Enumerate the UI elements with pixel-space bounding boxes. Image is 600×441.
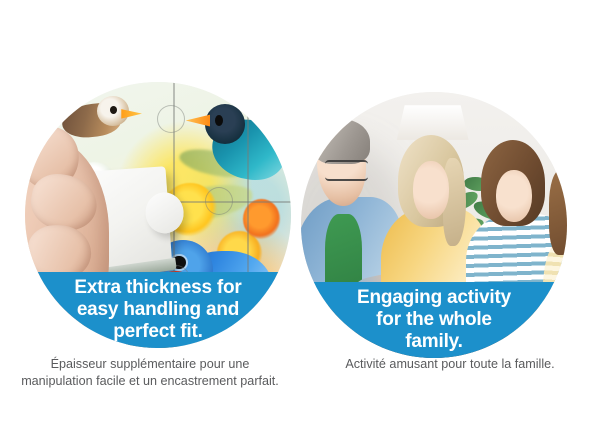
caption-band-engaging-activity: Engaging activity for the whole family. xyxy=(301,282,567,358)
puzzle-knob xyxy=(206,188,232,214)
medallion-engaging-activity: Engaging activity for the whole family. xyxy=(301,92,567,358)
subcaption-french-extra-thickness: Épaisseur supplémentaire pour une manipu… xyxy=(0,356,300,389)
subcaption-french-engaging-activity: Activité amusant pour toute la famille. xyxy=(300,356,600,373)
feature-board: Extra thickness for easy handling and pe… xyxy=(0,0,600,441)
face xyxy=(496,170,532,222)
puzzle-knob xyxy=(158,106,184,132)
caption-text-english: Engaging activity for the whole family. xyxy=(357,287,511,353)
medallion-extra-thickness: Extra thickness for easy handling and pe… xyxy=(25,82,291,348)
gray-hair xyxy=(313,119,370,165)
feature-panel-extra-thickness: Extra thickness for easy handling and pe… xyxy=(0,0,300,441)
feature-panel-engaging-activity: Engaging activity for the whole family. … xyxy=(300,0,600,441)
ponytail xyxy=(549,170,567,256)
eyeglasses-icon xyxy=(325,160,368,181)
face xyxy=(413,161,449,218)
caption-band-extra-thickness: Extra thickness for easy handling and pe… xyxy=(25,272,291,348)
caption-text-english: Extra thickness for easy handling and pe… xyxy=(74,277,241,343)
